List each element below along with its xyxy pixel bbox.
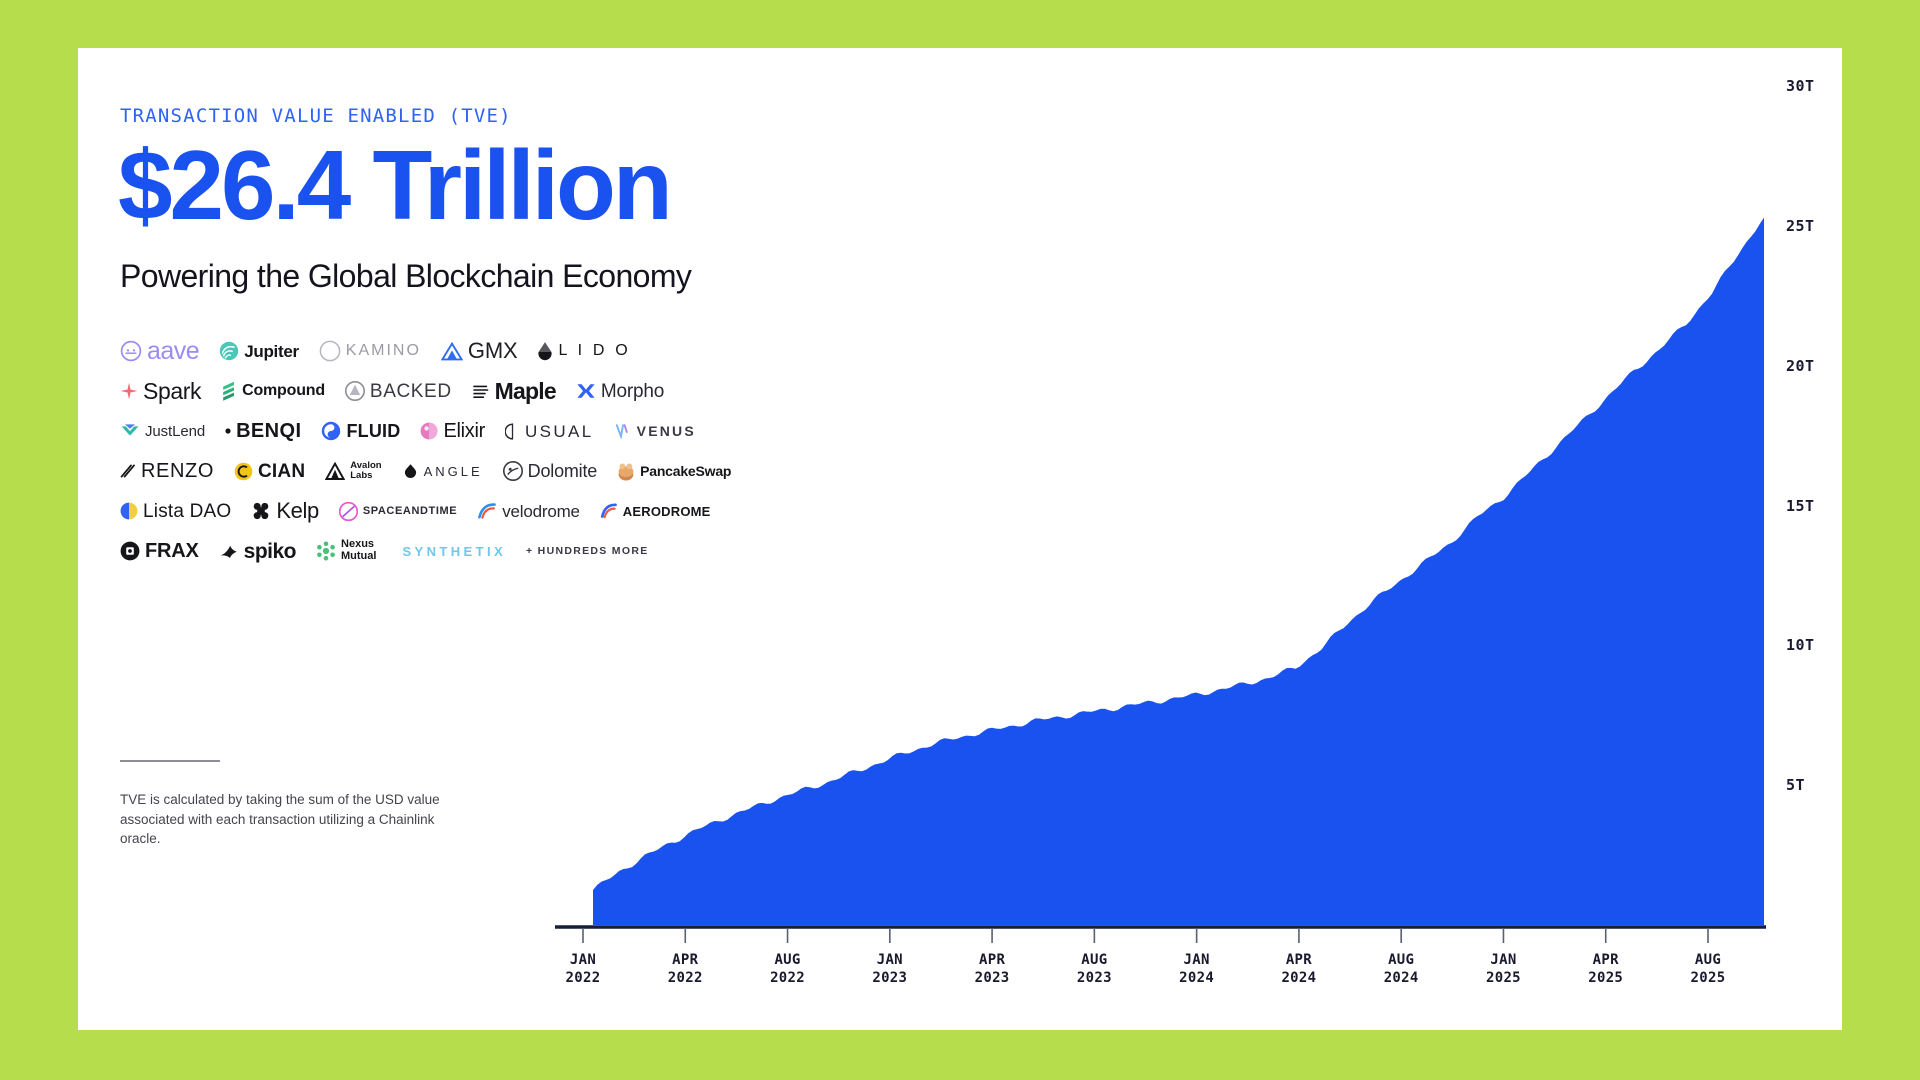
partner-logo-label: Dolomite	[528, 462, 597, 480]
partner-logo-label: CIAN	[258, 462, 305, 481]
partner-logo-hundreds-more[interactable]: + HUNDREDS MORE	[526, 546, 648, 557]
partner-logo-pancakeswap[interactable]: PancakeSwap	[617, 462, 731, 481]
x-tick-month: AUG	[743, 951, 833, 969]
footnote-text: TVE is calculated by taking the sum of t…	[120, 790, 450, 849]
x-axis-tick: JAN2022	[538, 951, 628, 988]
partner-logo-gmx[interactable]: GMX	[441, 340, 518, 362]
frax-icon	[120, 541, 140, 561]
cian-icon	[234, 462, 253, 481]
x-tick-month: AUG	[1049, 951, 1139, 969]
partner-logo-velodrome[interactable]: velodrome	[477, 502, 580, 520]
footnote-divider	[120, 760, 220, 762]
partner-logo-label: SYNTHETIX	[402, 545, 506, 558]
angle-icon	[402, 463, 419, 479]
x-tick-year: 2024	[1254, 969, 1344, 987]
partner-logo-fluid[interactable]: FLUID	[321, 421, 400, 441]
backed-icon	[345, 381, 365, 401]
aave-icon	[120, 340, 142, 362]
partner-logo-grid: aaveJupiterKAMINOGMXL I D OSparkCompound…	[120, 331, 780, 571]
infographic-card: 5T10T15T20T25T30T JAN2022APR2022AUG2022J…	[78, 48, 1842, 1030]
x-axis-tick: AUG2024	[1356, 951, 1446, 988]
partner-logo-label: spiko	[244, 541, 296, 562]
partner-logo-spark[interactable]: Spark	[120, 380, 201, 403]
partner-logo-label: L I D O	[558, 343, 631, 359]
usual-icon	[505, 423, 520, 440]
partner-logo-nexus-mutual[interactable]: Nexus Mutual	[316, 539, 376, 563]
partner-logo-label: ANGLE	[424, 465, 483, 478]
y-axis-tick: 20T	[1786, 357, 1815, 375]
partner-logo-avalon-labs[interactable]: Avalon Labs	[325, 461, 381, 482]
partner-logo-frax[interactable]: FRAX	[120, 541, 199, 561]
x-tick-year: 2022	[743, 969, 833, 987]
x-axis-tick: APR2025	[1561, 951, 1651, 988]
morpho-icon	[576, 382, 596, 400]
partner-logo-label: Jupiter	[244, 343, 299, 360]
x-tick-month: APR	[1561, 951, 1651, 969]
partner-logo-benqi[interactable]: BENQI	[225, 421, 301, 441]
partner-logo-venus[interactable]: VENUS	[614, 423, 696, 439]
partner-logo-label: Lista DAO	[143, 502, 231, 521]
partner-logo-aerodrome[interactable]: AERODROME	[600, 502, 711, 520]
justlend-icon	[120, 423, 140, 439]
venus-icon	[614, 423, 632, 439]
partner-logo-cian[interactable]: CIAN	[234, 462, 305, 481]
partner-logo-angle[interactable]: ANGLE	[402, 463, 483, 479]
maple-icon	[472, 382, 490, 400]
x-axis-tick: AUG2023	[1049, 951, 1139, 988]
partner-logo-label: SPACEANDTIME	[363, 506, 457, 517]
x-tick-month: AUG	[1663, 951, 1753, 969]
y-axis-tick: 5T	[1786, 776, 1805, 794]
partner-logo-aave[interactable]: aave	[120, 339, 199, 364]
partner-logo-label: JustLend	[145, 424, 205, 439]
partner-logo-compound[interactable]: Compound	[221, 381, 325, 401]
x-tick-month: APR	[640, 951, 730, 969]
partner-logo-jupiter[interactable]: Jupiter	[219, 341, 299, 361]
partner-logo-label: KAMINO	[346, 343, 421, 359]
partner-logo-label: VENUS	[637, 424, 696, 438]
partner-logo-label: PancakeSwap	[640, 464, 731, 478]
partner-logo-label: BENQI	[236, 421, 301, 441]
partner-logo-label: aave	[147, 339, 199, 364]
logo-row: FRAXspikoNexus MutualSYNTHETIX+ HUNDREDS…	[120, 531, 780, 571]
x-tick-month: JAN	[538, 951, 628, 969]
x-tick-year: 2023	[947, 969, 1037, 987]
partner-logo-label: Spark	[143, 380, 201, 403]
x-tick-month: APR	[947, 951, 1037, 969]
spark-icon	[120, 382, 138, 400]
x-tick-year: 2025	[1561, 969, 1651, 987]
partner-logo-kelp[interactable]: Kelp	[251, 500, 318, 522]
fluid-icon	[321, 421, 341, 441]
logo-row: JustLendBENQIFLUIDElixirUSUALVENUS	[120, 411, 780, 451]
logo-row: aaveJupiterKAMINOGMXL I D O	[120, 331, 780, 371]
x-axis-tick: JAN2024	[1152, 951, 1242, 988]
partner-logo-usual[interactable]: USUAL	[505, 423, 594, 440]
benqi-icon	[225, 428, 231, 434]
y-axis-tick: 15T	[1786, 497, 1815, 515]
page-subtitle: Powering the Global Blockchain Economy	[120, 258, 691, 295]
nexus-icon	[316, 541, 336, 561]
x-tick-month: JAN	[845, 951, 935, 969]
partner-logo-renzo[interactable]: RENZO	[120, 461, 214, 481]
partner-logo-label: Maple	[495, 380, 556, 403]
x-tick-year: 2024	[1152, 969, 1242, 987]
x-axis-tick: APR2022	[640, 951, 730, 988]
partner-logo-label: AERODROME	[623, 505, 711, 518]
renzo-icon	[120, 463, 136, 479]
partner-logo-label: USUAL	[525, 423, 594, 440]
x-tick-year: 2022	[640, 969, 730, 987]
partner-logo-label: Nexus Mutual	[341, 539, 376, 563]
gmx-icon	[441, 342, 463, 361]
partner-logo-label: BACKED	[370, 382, 452, 401]
partner-logo-spiko[interactable]: spiko	[219, 541, 296, 562]
x-tick-month: APR	[1254, 951, 1344, 969]
x-tick-month: JAN	[1458, 951, 1548, 969]
compound-icon	[221, 381, 237, 401]
x-tick-year: 2024	[1356, 969, 1446, 987]
kelp-icon	[251, 501, 271, 521]
synthetix-icon	[396, 551, 397, 552]
partner-logo-label: Compound	[242, 383, 325, 399]
spaceandtime-icon	[339, 502, 358, 521]
x-tick-year: 2025	[1458, 969, 1548, 987]
lista-icon	[120, 502, 138, 520]
y-axis-tick: 10T	[1786, 636, 1815, 654]
pancakeswap-icon	[617, 462, 635, 481]
eyebrow-label: TRANSACTION VALUE ENABLED (TVE)	[120, 105, 512, 127]
partner-logo-kamino[interactable]: KAMINO	[319, 340, 421, 362]
y-axis-tick: 25T	[1786, 217, 1815, 235]
x-tick-year: 2025	[1663, 969, 1753, 987]
partner-logo-label: velodrome	[502, 503, 580, 520]
partner-logo-label: Kelp	[276, 500, 318, 522]
x-tick-year: 2023	[845, 969, 935, 987]
x-axis-tick: JAN2023	[845, 951, 935, 988]
jupiter-icon	[219, 341, 239, 361]
spiko-icon	[219, 543, 239, 560]
aerodrome-icon	[600, 502, 618, 520]
partner-logo-label: Morpho	[601, 382, 664, 401]
partner-logo-synthetix[interactable]: SYNTHETIX	[396, 545, 506, 558]
logo-row: SparkCompoundBACKEDMapleMorpho	[120, 371, 780, 411]
partner-logo-maple[interactable]: Maple	[472, 380, 556, 403]
elixir-icon	[420, 422, 438, 440]
y-axis-tick: 30T	[1786, 77, 1815, 95]
partner-logo-label: Avalon Labs	[350, 461, 381, 482]
logo-row: RENZOCIANAvalon LabsANGLEDolomitePancake…	[120, 451, 780, 491]
x-tick-month: JAN	[1152, 951, 1242, 969]
partner-logo-label: FLUID	[346, 422, 400, 440]
partner-logo-space-and-time[interactable]: SPACEANDTIME	[339, 502, 457, 521]
kamino-icon	[319, 340, 341, 362]
lido-icon	[537, 341, 553, 361]
partner-logo-label: Elixir	[443, 421, 485, 441]
partner-logo-label: + HUNDREDS MORE	[526, 546, 648, 557]
avalon-icon	[325, 462, 345, 481]
partner-logo-justlend[interactable]: JustLend	[120, 423, 205, 439]
dolomite-icon	[503, 461, 523, 481]
partner-logo-morpho[interactable]: Morpho	[576, 382, 664, 401]
x-axis-tick: JAN2025	[1458, 951, 1548, 988]
partner-logo-backed[interactable]: BACKED	[345, 381, 452, 401]
x-tick-month: AUG	[1356, 951, 1446, 969]
logo-row: Lista DAOKelpSPACEANDTIMEvelodromeAERODR…	[120, 491, 780, 531]
partner-logo-lista-dao[interactable]: Lista DAO	[120, 502, 231, 521]
partner-logo-dolomite[interactable]: Dolomite	[503, 461, 597, 481]
x-axis-tick: APR2024	[1254, 951, 1344, 988]
partner-logo-elixir[interactable]: Elixir	[420, 421, 485, 441]
partner-logo-label: FRAX	[145, 541, 199, 561]
partner-logo-label: GMX	[468, 340, 518, 362]
velodrome-icon	[477, 502, 497, 520]
page-title: $26.4 Trillion	[118, 133, 670, 239]
x-axis-tick: APR2023	[947, 951, 1037, 988]
x-axis-tick: AUG2022	[743, 951, 833, 988]
partner-logo-lido[interactable]: L I D O	[537, 341, 631, 361]
x-tick-year: 2022	[538, 969, 628, 987]
x-tick-year: 2023	[1049, 969, 1139, 987]
x-axis-tick: AUG2025	[1663, 951, 1753, 988]
partner-logo-label: RENZO	[141, 461, 214, 481]
